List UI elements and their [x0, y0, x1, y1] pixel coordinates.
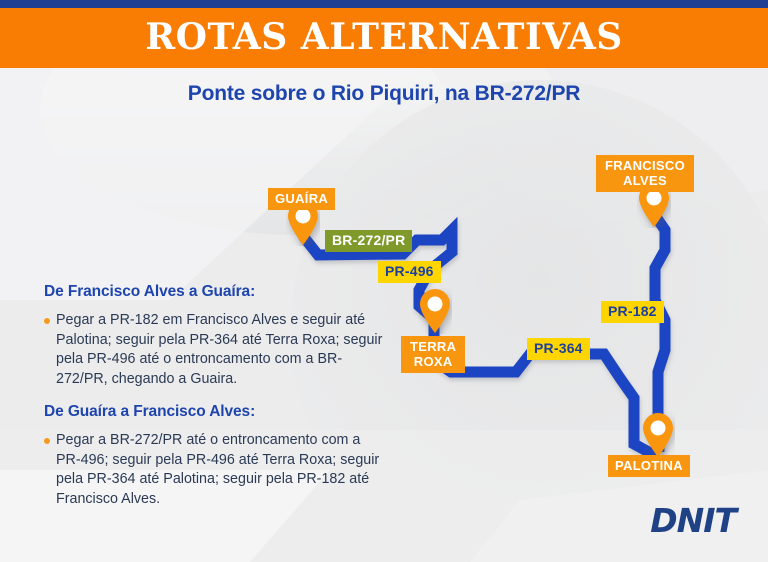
city-label-terra-roxa-line2: ROXA: [410, 354, 456, 369]
road-badge-pr-364: PR-364: [527, 338, 590, 360]
road-badge-pr-182: PR-182: [601, 301, 664, 323]
section-body: Pegar a PR-182 em Francisco Alves e segu…: [44, 311, 384, 389]
bullet-icon: [44, 438, 50, 444]
poster-root: ROTAS ALTERNATIVAS Ponte sobre o Rio Piq…: [0, 0, 768, 562]
bullet-icon: [44, 318, 50, 324]
section-guaira-to-francisco: De Guaíra a Francisco Alves: Pegar a BR-…: [44, 403, 384, 509]
map-pin-palotina[interactable]: [641, 412, 675, 458]
city-label-francisco-alves: FRANCISCO ALVES: [596, 155, 694, 192]
road-badge-pr-496: PR-496: [378, 261, 441, 283]
section-francisco-to-guaira: De Francisco Alves a Guaíra: Pegar a PR-…: [44, 283, 384, 389]
section-body-text: Pegar a BR-272/PR até o entroncamento co…: [56, 432, 379, 507]
road-badge-br-272-pr: BR-272/PR: [325, 230, 412, 252]
section-heading: De Francisco Alves a Guaíra:: [44, 283, 384, 301]
section-body: Pegar a BR-272/PR até o entroncamento co…: [44, 431, 384, 509]
map-pin-terra-roxa[interactable]: [418, 288, 452, 334]
city-label-francisco-alves-line1: FRANCISCO: [605, 158, 685, 173]
city-label-terra-roxa: TERRA ROXA: [401, 336, 465, 373]
section-body-text: Pegar a PR-182 em Francisco Alves e segu…: [56, 312, 382, 387]
city-label-francisco-alves-line2: ALVES: [605, 173, 685, 188]
dnit-logo: DNIT: [650, 501, 736, 540]
city-label-palotina: PALOTINA: [608, 455, 690, 477]
city-label-terra-roxa-line1: TERRA: [410, 339, 456, 354]
section-heading: De Guaíra a Francisco Alves:: [44, 403, 384, 421]
city-label-guaira: GUAÍRA: [268, 188, 335, 210]
